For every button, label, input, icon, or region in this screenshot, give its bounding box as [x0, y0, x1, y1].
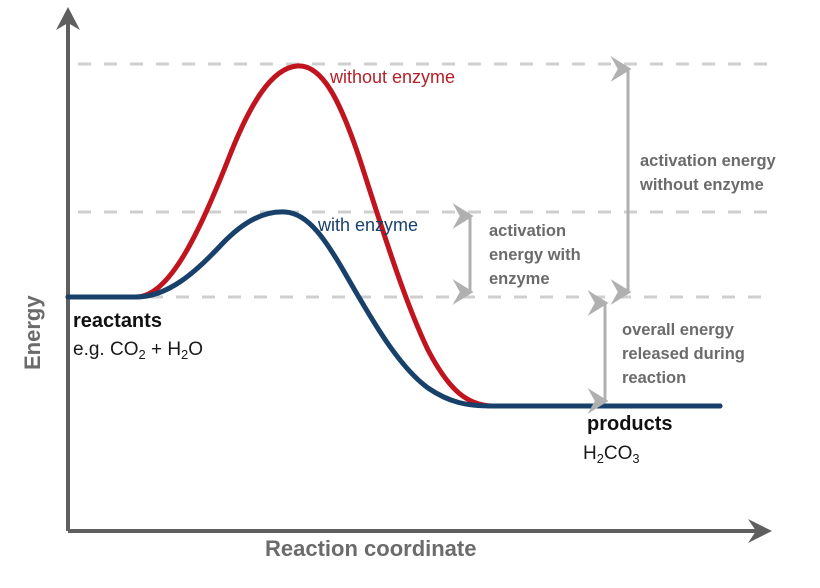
- reactants-formula-prefix: e.g. CO: [73, 339, 138, 360]
- y-axis-title: Energy: [22, 295, 44, 370]
- reactants-formula-mid: + H: [146, 339, 181, 360]
- products-formula: H2CO3: [583, 444, 640, 463]
- reactants-formula: e.g. CO2 + H2O: [73, 340, 203, 359]
- reactants-formula-sub2: 2: [181, 347, 188, 362]
- x-axis-title: Reaction coordinate: [265, 538, 476, 560]
- annotation-activation-energy-with-enzyme: activation energy with enzyme: [489, 219, 607, 291]
- reactants-formula-sub1: 2: [138, 347, 145, 362]
- energy-diagram-figure: without enzyme with enzyme reactants e.g…: [0, 0, 820, 588]
- y-axis: [56, 7, 80, 531]
- products-formula-prefix: H: [583, 443, 597, 464]
- products-formula-mid: CO: [604, 443, 633, 464]
- energy-diagram-plot: [0, 0, 820, 588]
- reactants-title: reactants: [73, 311, 162, 331]
- curve-label-with-enzyme: with enzyme: [318, 216, 418, 234]
- products-formula-sub1: 2: [597, 451, 604, 466]
- products-title: products: [587, 414, 673, 434]
- annotation-activation-energy-without-enzyme: activation energy without enzyme: [640, 149, 800, 197]
- annotation-overall-energy-released: overall energy released during reaction: [622, 318, 790, 390]
- curve-label-without-enzyme: without enzyme: [330, 68, 455, 86]
- products-formula-sub2: 3: [632, 451, 639, 466]
- reactants-formula-suffix: O: [188, 339, 203, 360]
